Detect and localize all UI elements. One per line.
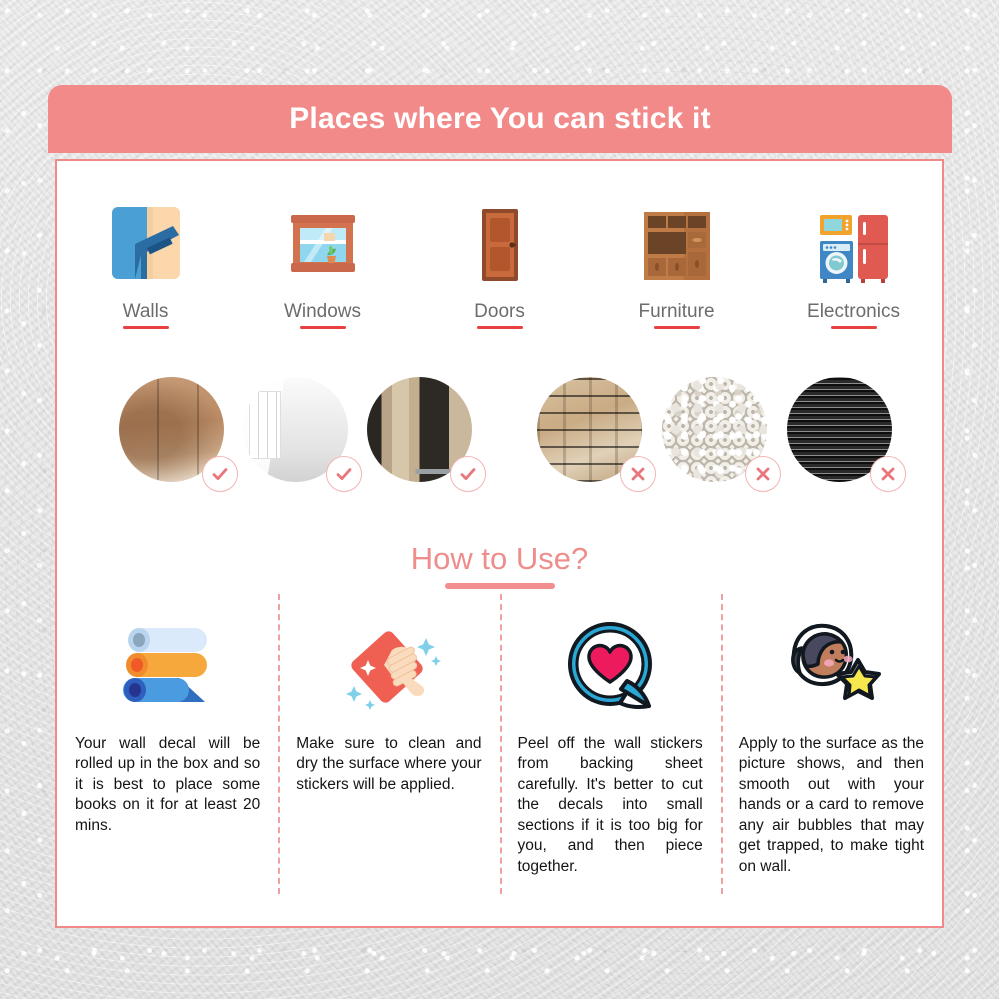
poster-card: Walls Windows [55,159,944,928]
category-windows[interactable]: Windows [234,199,411,329]
surface-smooth-wood-panel[interactable] [119,377,224,482]
category-furniture[interactable]: Furniture [588,199,765,329]
howto-title: How to Use? [57,541,942,577]
category-doors[interactable]: Doors [411,199,588,329]
surface-examples-row [57,367,942,502]
poster-header-band: Places where You can stick it [48,85,952,153]
category-underline [654,326,700,329]
category-underline [477,326,523,329]
rolled-decal-icon [109,620,227,712]
step-illustration [296,616,481,716]
step-illustration [75,616,260,716]
category-label: Electronics [807,301,900,323]
step-text: Make sure to clean and dry the surface w… [296,734,481,795]
wall-paint-roller-icon [100,199,192,291]
step-2: Make sure to clean and dry the surface w… [278,616,499,877]
cross-icon [753,464,773,484]
cleaning-cloth-icon [330,620,448,712]
step-text: Apply to the surface as the picture show… [739,734,924,877]
surface-rough-gravel-texture[interactable] [662,377,767,482]
page-title: Places where You can stick it [289,102,711,136]
category-label: Doors [474,301,525,323]
step-1: Your wall decal will be rolled up in the… [57,616,278,877]
category-walls[interactable]: Walls [57,199,234,329]
step-text: Peel off the wall stickers from backing … [518,734,703,877]
surface-category-row: Walls Windows [57,199,942,329]
check-icon [458,464,478,484]
category-label: Walls [123,301,169,323]
step-illustration [739,616,924,716]
instruction-poster: Places where You can stick it Walls [48,85,952,936]
step-3: Peel off the wall stickers from backing … [500,616,721,877]
door-icon [454,199,546,291]
check-icon [210,464,230,484]
howto-steps: Your wall decal will be rolled up in the… [57,616,942,877]
heart-sticker-icon [555,618,665,714]
check-badge [450,456,486,492]
check-icon [334,464,354,484]
category-underline [123,326,169,329]
appliances-icon [808,199,900,291]
cross-badge [870,456,906,492]
surface-wood-door-panel[interactable] [367,377,472,482]
step-4: Apply to the surface as the picture show… [721,616,942,877]
surface-painted-wall-room[interactable] [243,377,348,482]
category-electronics[interactable]: Electronics [765,199,942,329]
check-badge [202,456,238,492]
howto-underline [445,583,555,589]
person-star-sticker-icon [772,618,890,714]
surface-dark-ribbed-texture[interactable] [787,377,892,482]
cross-icon [628,464,648,484]
surface-stacked-stone-wall[interactable] [537,377,642,482]
category-label: Furniture [638,301,714,323]
cross-badge [745,456,781,492]
step-illustration [518,616,703,716]
category-underline [300,326,346,329]
category-underline [831,326,877,329]
cross-icon [878,464,898,484]
cabinet-furniture-icon [631,199,723,291]
step-text: Your wall decal will be rolled up in the… [75,734,260,836]
window-icon [277,199,369,291]
check-badge [326,456,362,492]
howto-section-header: How to Use? [57,541,942,589]
cross-badge [620,456,656,492]
category-label: Windows [284,301,361,323]
